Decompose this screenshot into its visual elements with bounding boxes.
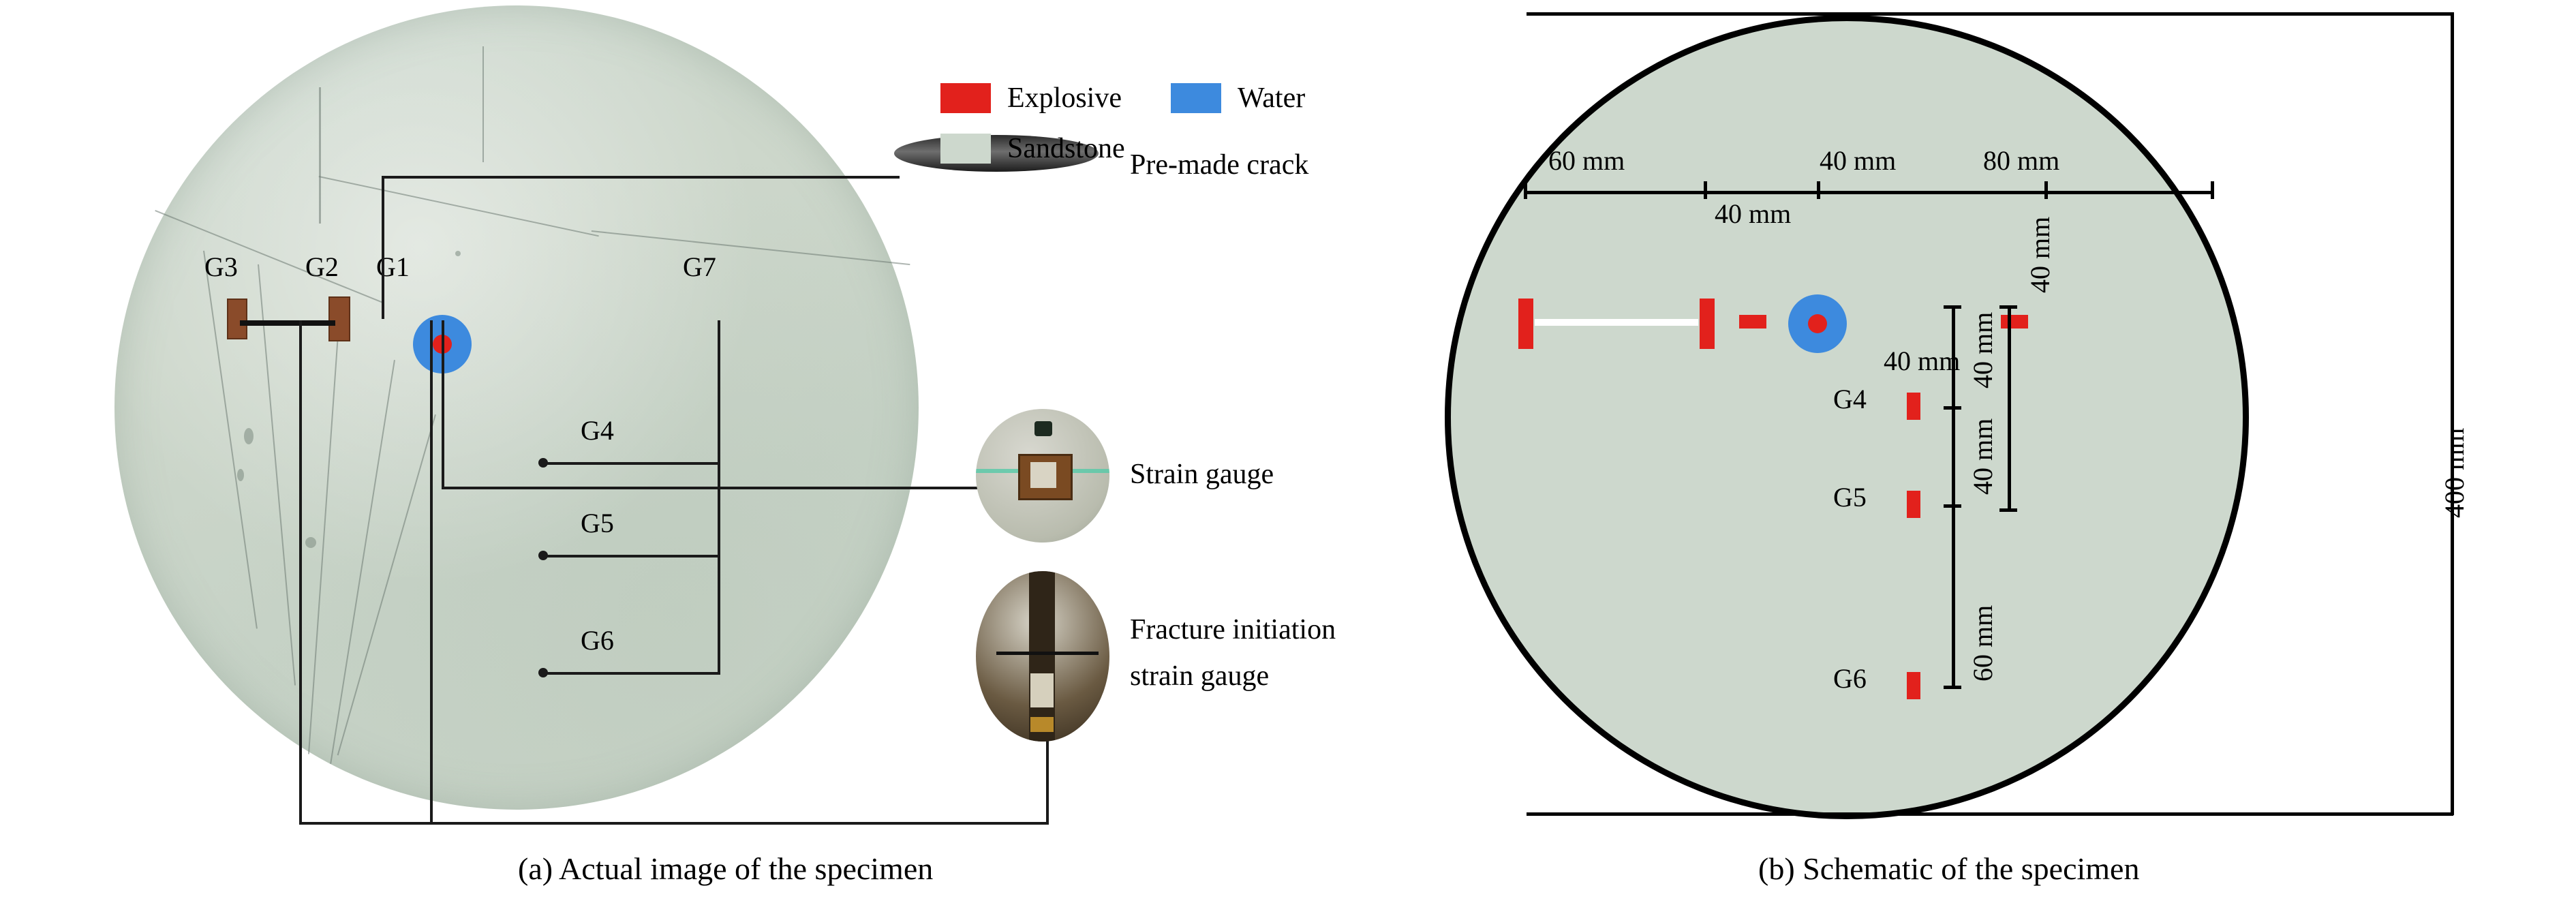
dim-60mm-vert: 60 mm <box>1967 605 1999 682</box>
dim-tick <box>1944 504 1961 508</box>
leader-g4 <box>543 462 720 465</box>
gauge-wire-g3-g2 <box>240 320 335 326</box>
photo-crack-line <box>337 414 436 755</box>
dim-80mm-top-right: 80 mm <box>1983 144 2059 177</box>
photo-crack-line <box>592 230 910 265</box>
dim-tick <box>1524 181 1527 199</box>
leader-bottom-left-1 <box>299 320 302 825</box>
leader-bottom-left-2 <box>430 320 433 825</box>
dim-bottom-frame-line <box>1527 812 2453 816</box>
gauge-chip-g3 <box>227 299 247 339</box>
dim-tick <box>1999 508 2017 512</box>
leader-g7-vertical <box>718 320 720 675</box>
dim-tick <box>1999 305 2017 309</box>
dim-vert-outer-line <box>2008 305 2011 510</box>
dim-tick <box>1944 406 1961 410</box>
gauge-bar-g5 <box>1907 491 1920 518</box>
specimen-photograph <box>114 5 919 810</box>
photo-crack-line <box>482 46 484 162</box>
legend-label-sandstone: Sandstone <box>1007 132 1125 165</box>
gauge-bar-g6 <box>1907 672 1920 699</box>
leader-crack-vertical <box>382 176 384 319</box>
dim-tick <box>2044 181 2048 199</box>
photo-speck <box>244 428 254 444</box>
photo-crack-line <box>155 210 383 303</box>
dim-60mm-top-left: 60 mm <box>1548 144 1625 177</box>
label-g5: G5 <box>581 510 614 537</box>
dim-40mm-below-hole: 40 mm <box>1884 345 1960 377</box>
label-g3: G3 <box>204 254 238 281</box>
caption-panel-a: (a) Actual image of the specimen <box>518 851 933 887</box>
photo-speck <box>305 537 316 548</box>
fracture-gauge-grid <box>1030 673 1054 707</box>
leader-g5 <box>543 555 720 558</box>
photo-speck <box>237 469 244 481</box>
dim-tick <box>1944 305 1961 309</box>
legend-row-sandstone: Sandstone <box>940 132 1261 165</box>
callout-strain-gauge: Strain gauge <box>1130 458 1274 491</box>
gauge-chip-g2 <box>328 296 350 341</box>
photo-crack-line <box>319 87 321 224</box>
dim-40mm-vert-a: 40 mm <box>1967 312 1999 388</box>
legend: Explosive Water Sandstone <box>940 82 1261 183</box>
water-swatch <box>1171 83 1221 113</box>
legend-label-explosive: Explosive <box>1007 82 1122 114</box>
dim-right-frame-line <box>2451 12 2454 815</box>
legend-row-explosive: Explosive Water <box>940 82 1261 114</box>
photo-crack-line <box>258 264 296 686</box>
gauge-bar-g7 <box>2001 315 2028 329</box>
caption-panel-b: (b) Schematic of the specimen <box>1758 851 2139 887</box>
photo-crack-line <box>330 360 395 764</box>
explosive-charge-icon <box>1808 314 1827 333</box>
dim-tick <box>1704 181 1707 199</box>
photo-crack-line <box>308 305 341 754</box>
pre-made-crack-line <box>1535 319 1698 326</box>
dim-tick <box>2211 181 2214 199</box>
figure-root: G3 G2 G1 G7 G4 G5 G6 Pre-made crack <box>0 0 2576 901</box>
fracture-gauge-crack <box>996 652 1099 655</box>
label-g6: G6 <box>1833 662 1867 694</box>
explosive-bar-mid <box>1700 299 1715 349</box>
explosive-swatch <box>940 83 991 113</box>
dim-chain-line <box>1524 191 2212 194</box>
sandstone-swatch <box>940 134 991 164</box>
dim-40mm-vert-outer: 40 mm <box>2024 217 2056 293</box>
dim-top-frame-line <box>1527 12 2453 16</box>
schematic-specimen-circle <box>1445 15 2249 819</box>
photo-crack-line <box>319 176 599 236</box>
label-g4: G4 <box>581 417 614 444</box>
panel-a-actual-image: G3 G2 G1 G7 G4 G5 G6 Pre-made crack <box>0 0 1281 901</box>
label-g2: G2 <box>305 254 339 281</box>
fracture-gauge-body <box>1029 571 1055 742</box>
strain-gauge-lead <box>1034 421 1052 436</box>
label-g7: G7 <box>683 254 716 281</box>
leader-crack-horizontal <box>382 176 900 179</box>
leader-g1-vertical <box>442 320 444 488</box>
label-g6: G6 <box>581 627 614 654</box>
strain-gauge-photo <box>976 409 1109 543</box>
label-g5: G5 <box>1833 481 1867 513</box>
callout-fracture-initiation-line2: strain gauge <box>1130 660 1269 692</box>
leader-g6 <box>543 672 720 675</box>
dim-40mm-top-mid: 40 mm <box>1820 144 1896 177</box>
dim-40mm-vert-b: 40 mm <box>1967 418 1999 495</box>
explosive-bar-left <box>1518 299 1533 349</box>
gauge-bar-g4 <box>1907 393 1920 420</box>
dim-tick <box>1817 181 1820 199</box>
dim-400mm: 400 mm <box>2438 428 2470 518</box>
dim-tick <box>1944 686 1961 689</box>
schematic-blast-hole <box>1788 294 1847 353</box>
strain-gauge-grid <box>1030 462 1056 488</box>
fracture-initiation-gauge-photo <box>976 571 1109 742</box>
photo-speck <box>455 251 461 256</box>
gauge-bar-g2 <box>1739 315 1766 329</box>
fracture-gauge-terminal <box>1030 717 1054 732</box>
dim-40mm-under-top: 40 mm <box>1715 198 1791 230</box>
label-g4: G4 <box>1833 383 1867 415</box>
panel-b-schematic: 400 mm 60 mm 40 mm 80 mm 40 mm 40 mm 40 … <box>1281 0 2576 901</box>
leader-strain-gauge <box>442 487 980 489</box>
leader-bottom-horizontal <box>299 822 1049 825</box>
